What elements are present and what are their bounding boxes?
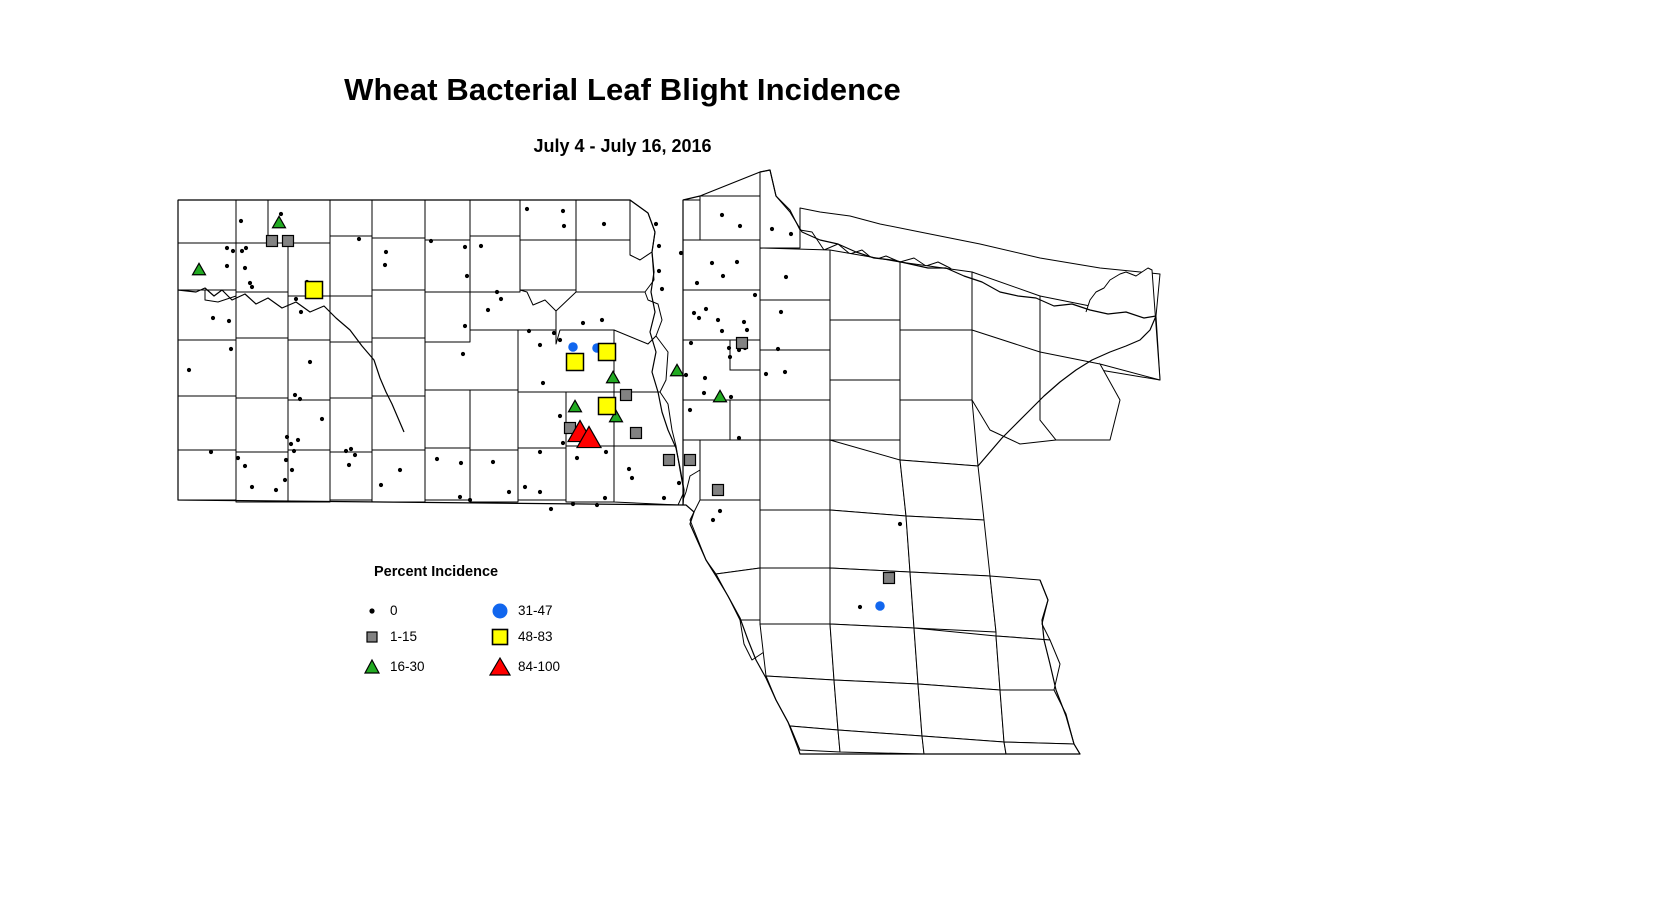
map-canvas bbox=[0, 0, 1673, 900]
green-triangle-icon bbox=[360, 656, 384, 678]
legend-label: 0 bbox=[390, 603, 398, 618]
map-marker-0 bbox=[299, 310, 303, 314]
map-marker-0 bbox=[243, 266, 247, 270]
map-marker-0 bbox=[236, 456, 240, 460]
map-marker-0 bbox=[604, 450, 608, 454]
map-marker-0 bbox=[704, 307, 708, 311]
map-marker-0 bbox=[770, 227, 774, 231]
map-marker-0 bbox=[600, 318, 604, 322]
map-marker-0 bbox=[735, 260, 739, 264]
map-marker-0 bbox=[248, 281, 252, 285]
map-marker-31-47 bbox=[568, 342, 578, 352]
map-marker-0 bbox=[742, 320, 746, 324]
dot-icon bbox=[360, 600, 384, 622]
yellow-square-icon bbox=[488, 626, 512, 648]
legend-label: 1-15 bbox=[390, 629, 417, 644]
map-marker-1-15 bbox=[884, 573, 895, 584]
map-marker-0 bbox=[552, 331, 556, 335]
map-marker-0 bbox=[738, 224, 742, 228]
map-marker-0 bbox=[525, 207, 529, 211]
map-marker-48-83 bbox=[599, 398, 616, 415]
map-marker-0 bbox=[753, 293, 757, 297]
map-marker-0 bbox=[296, 438, 300, 442]
map-marker-0 bbox=[562, 224, 566, 228]
map-marker-48-83 bbox=[567, 354, 584, 371]
map-marker-0 bbox=[274, 488, 278, 492]
map-marker-0 bbox=[383, 263, 387, 267]
map-marker-0 bbox=[716, 318, 720, 322]
map-marker-0 bbox=[347, 463, 351, 467]
map-page: Wheat Bacterial Leaf Blight Incidence Ju… bbox=[0, 0, 1673, 900]
map-marker-0 bbox=[549, 507, 553, 511]
map-marker-0 bbox=[728, 355, 732, 359]
map-marker-0 bbox=[320, 417, 324, 421]
map-marker-1-15 bbox=[283, 236, 294, 247]
map-marker-16-30 bbox=[671, 364, 684, 375]
map-marker-1-15 bbox=[631, 428, 642, 439]
map-marker-0 bbox=[729, 395, 733, 399]
map-marker-0 bbox=[784, 275, 788, 279]
map-marker-0 bbox=[538, 450, 542, 454]
map-marker-0 bbox=[657, 269, 661, 273]
map-marker-0 bbox=[558, 414, 562, 418]
map-marker-0 bbox=[429, 239, 433, 243]
map-marker-0 bbox=[289, 442, 293, 446]
map-marker-0 bbox=[231, 249, 235, 253]
map-marker-0 bbox=[662, 496, 666, 500]
map-marker-0 bbox=[285, 435, 289, 439]
legend-label: 31-47 bbox=[518, 603, 553, 618]
map-marker-0 bbox=[461, 352, 465, 356]
map-marker-0 bbox=[627, 467, 631, 471]
map-marker-0 bbox=[298, 397, 302, 401]
legend-label: 84-100 bbox=[518, 659, 560, 674]
legend-label: 48-83 bbox=[518, 629, 553, 644]
map-marker-0 bbox=[764, 372, 768, 376]
map-marker-0 bbox=[384, 250, 388, 254]
map-marker-0 bbox=[250, 485, 254, 489]
map-marker-1-15 bbox=[713, 485, 724, 496]
map-marker-0 bbox=[357, 237, 361, 241]
legend: Percent Incidence 0 1-15 16-30 31-47 bbox=[360, 556, 620, 686]
map-marker-0 bbox=[657, 244, 661, 248]
map-marker-0 bbox=[858, 605, 862, 609]
minnesota-counties bbox=[683, 170, 1160, 754]
map-marker-0 bbox=[463, 324, 467, 328]
map-marker-0 bbox=[227, 319, 231, 323]
map-marker-0 bbox=[538, 490, 542, 494]
map-marker-0 bbox=[225, 264, 229, 268]
map-marker-0 bbox=[209, 450, 213, 454]
map-marker-0 bbox=[468, 498, 472, 502]
map-marker-0 bbox=[602, 222, 606, 226]
map-marker-0 bbox=[290, 468, 294, 472]
map-marker-1-15 bbox=[664, 455, 675, 466]
map-marker-0 bbox=[603, 496, 607, 500]
map-marker-0 bbox=[654, 222, 658, 226]
map-marker-1-15 bbox=[685, 455, 696, 466]
map-marker-0 bbox=[538, 343, 542, 347]
map-marker-0 bbox=[737, 436, 741, 440]
map-marker-0 bbox=[783, 370, 787, 374]
gray-square-icon bbox=[360, 626, 384, 648]
map-marker-0 bbox=[558, 338, 562, 342]
map-marker-1-15 bbox=[621, 390, 632, 401]
map-marker-0 bbox=[711, 518, 715, 522]
map-marker-0 bbox=[435, 457, 439, 461]
map-marker-0 bbox=[459, 461, 463, 465]
map-marker-0 bbox=[689, 341, 693, 345]
map-marker-0 bbox=[727, 346, 731, 350]
map-marker-0 bbox=[458, 495, 462, 499]
map-marker-0 bbox=[243, 464, 247, 468]
map-svg bbox=[0, 0, 1673, 900]
map-marker-0 bbox=[581, 321, 585, 325]
map-marker-0 bbox=[779, 310, 783, 314]
map-marker-0 bbox=[523, 485, 527, 489]
map-marker-0 bbox=[344, 449, 348, 453]
map-marker-0 bbox=[463, 245, 467, 249]
map-marker-0 bbox=[776, 347, 780, 351]
map-marker-0 bbox=[398, 468, 402, 472]
map-marker-0 bbox=[695, 281, 699, 285]
map-marker-0 bbox=[718, 509, 722, 513]
map-marker-0 bbox=[702, 391, 706, 395]
map-marker-0 bbox=[677, 481, 681, 485]
map-marker-0 bbox=[721, 274, 725, 278]
map-marker-0 bbox=[308, 360, 312, 364]
map-marker-0 bbox=[293, 393, 297, 397]
map-marker-0 bbox=[187, 368, 191, 372]
map-marker-0 bbox=[720, 213, 724, 217]
map-marker-0 bbox=[499, 297, 503, 301]
map-marker-0 bbox=[250, 285, 254, 289]
map-marker-0 bbox=[527, 329, 531, 333]
map-marker-0 bbox=[211, 316, 215, 320]
map-marker-0 bbox=[353, 453, 357, 457]
map-marker-0 bbox=[703, 376, 707, 380]
map-marker-48-83 bbox=[599, 344, 616, 361]
map-marker-0 bbox=[244, 246, 248, 250]
map-marker-0 bbox=[349, 447, 353, 451]
map-marker-0 bbox=[225, 246, 229, 250]
map-marker-0 bbox=[745, 328, 749, 332]
map-marker-0 bbox=[294, 297, 298, 301]
map-marker-1-15 bbox=[737, 338, 748, 349]
map-marker-0 bbox=[561, 209, 565, 213]
map-marker-0 bbox=[710, 261, 714, 265]
map-marker-0 bbox=[507, 490, 511, 494]
map-marker-0 bbox=[479, 244, 483, 248]
map-marker-0 bbox=[541, 381, 545, 385]
map-marker-0 bbox=[561, 441, 565, 445]
map-marker-0 bbox=[720, 329, 724, 333]
map-marker-0 bbox=[283, 478, 287, 482]
map-marker-0 bbox=[684, 373, 688, 377]
map-marker-0 bbox=[229, 347, 233, 351]
map-marker-0 bbox=[495, 290, 499, 294]
blue-circle-icon bbox=[488, 600, 512, 622]
map-marker-0 bbox=[379, 483, 383, 487]
map-marker-0 bbox=[688, 408, 692, 412]
map-marker-0 bbox=[575, 456, 579, 460]
map-marker-0 bbox=[240, 249, 244, 253]
map-marker-0 bbox=[697, 316, 701, 320]
map-marker-0 bbox=[898, 522, 902, 526]
legend-title: Percent Incidence bbox=[374, 564, 498, 580]
map-marker-0 bbox=[789, 232, 793, 236]
map-marker-0 bbox=[292, 449, 296, 453]
map-marker-0 bbox=[692, 311, 696, 315]
map-marker-0 bbox=[486, 308, 490, 312]
map-marker-0 bbox=[491, 460, 495, 464]
map-marker-48-83 bbox=[306, 282, 323, 299]
red-triangle-icon bbox=[488, 656, 512, 678]
map-marker-0 bbox=[279, 212, 283, 216]
map-marker-1-15 bbox=[267, 236, 278, 247]
map-marker-0 bbox=[284, 458, 288, 462]
map-marker-0 bbox=[595, 503, 599, 507]
map-marker-0 bbox=[239, 219, 243, 223]
map-marker-0 bbox=[465, 274, 469, 278]
map-marker-0 bbox=[630, 476, 634, 480]
map-marker-0 bbox=[571, 502, 575, 506]
map-marker-0 bbox=[660, 287, 664, 291]
legend-label: 16-30 bbox=[390, 659, 425, 674]
map-marker-0 bbox=[679, 251, 683, 255]
map-marker-31-47 bbox=[875, 601, 885, 611]
